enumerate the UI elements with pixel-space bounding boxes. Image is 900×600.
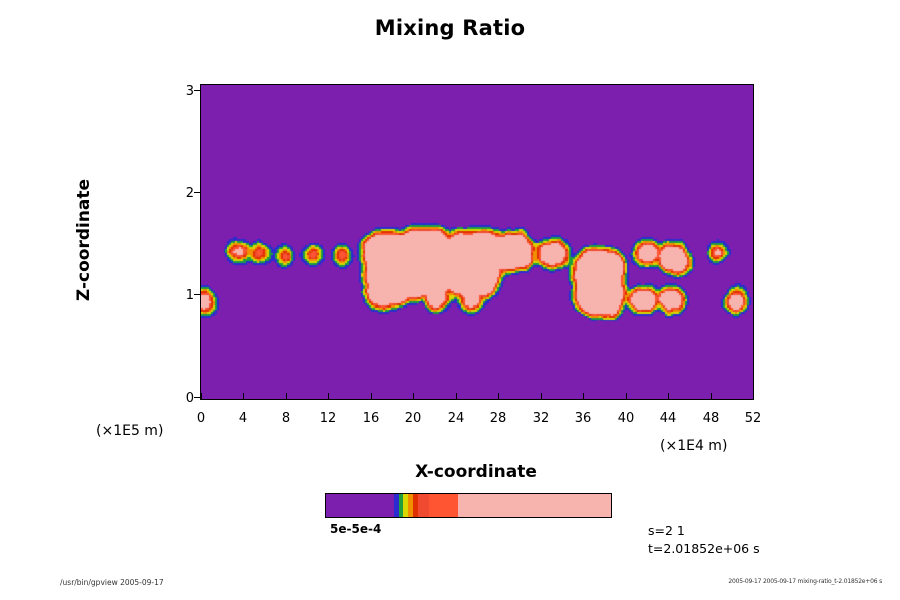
xtick-label-1: 4 (231, 411, 255, 426)
xtick-mark-8 (541, 393, 542, 399)
xtick-mark-11 (668, 393, 669, 399)
y-axis-label: Z-coordinate (74, 140, 94, 340)
ytick-label-1: 1 (170, 288, 194, 303)
xtick-mark-6 (456, 393, 457, 399)
xtick-label-9: 36 (571, 411, 595, 426)
colorbar-segment-8 (458, 494, 611, 517)
colorbar-segment-6 (418, 494, 429, 517)
annotation-t: t=2.01852e+06 s (648, 541, 760, 556)
xtick-label-8: 32 (529, 411, 553, 426)
colorbar-label: 5e-5e-4 (330, 522, 440, 536)
ytick-mark-0 (194, 397, 200, 398)
colorbar-segment-0 (326, 494, 394, 517)
x-axis-label: X-coordinate (200, 462, 752, 482)
xtick-label-13: 52 (741, 411, 765, 426)
xtick-label-12: 48 (699, 411, 723, 426)
colorbar (325, 493, 612, 518)
xtick-mark-0 (201, 393, 202, 399)
xtick-mark-13 (753, 393, 754, 399)
plot-area (200, 84, 754, 400)
xtick-label-3: 12 (316, 411, 340, 426)
xtick-label-4: 16 (359, 411, 383, 426)
xtick-mark-4 (371, 393, 372, 399)
xtick-mark-12 (711, 393, 712, 399)
ytick-label-3: 3 (170, 84, 194, 99)
xtick-mark-7 (498, 393, 499, 399)
xtick-mark-3 (328, 393, 329, 399)
ytick-label-2: 2 (170, 186, 194, 201)
xtick-mark-10 (626, 393, 627, 399)
xtick-mark-2 (286, 393, 287, 399)
xtick-label-2: 8 (274, 411, 298, 426)
xtick-label-5: 20 (401, 411, 425, 426)
xtick-label-0: 0 (189, 411, 213, 426)
xtick-label-7: 28 (486, 411, 510, 426)
colorbar-segment-7 (429, 494, 458, 517)
ytick-mark-3 (194, 90, 200, 91)
ytick-mark-2 (194, 192, 200, 193)
page-title: Mixing Ratio (0, 16, 900, 40)
ytick-label-0: 0 (170, 391, 194, 406)
annotation-s: s=2 1 (648, 523, 685, 538)
heatmap-canvas (201, 85, 753, 399)
xtick-mark-5 (413, 393, 414, 399)
xtick-label-11: 44 (656, 411, 680, 426)
xtick-mark-9 (583, 393, 584, 399)
footer-right-text: 2005-09-17 2005-09-17 mixing-ratio_t-2.0… (728, 578, 882, 585)
xtick-label-10: 40 (614, 411, 638, 426)
y-axis-units: (×1E5 m) (96, 423, 163, 439)
ytick-mark-1 (194, 294, 200, 295)
x-axis-units: (×1E4 m) (660, 438, 727, 454)
footer-left-text: /usr/bin/gpview 2005-09-17 (60, 578, 164, 587)
xtick-mark-1 (243, 393, 244, 399)
xtick-label-6: 24 (444, 411, 468, 426)
